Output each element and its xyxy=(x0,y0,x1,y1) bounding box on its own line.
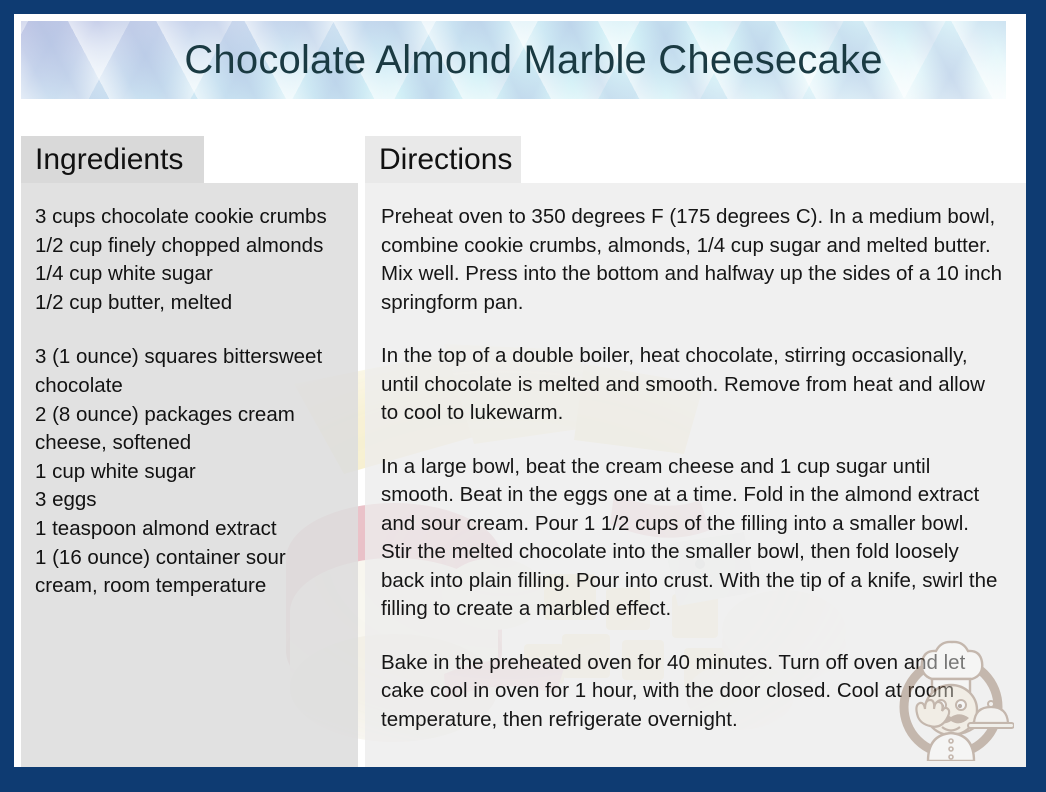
ingredients-group-crust: 3 cups chocolate cookie crumbs1/2 cup fi… xyxy=(35,203,344,317)
directions-panel: Preheat oven to 350 degrees F (175 degre… xyxy=(365,183,1026,767)
ingredient-item: 3 cups chocolate cookie crumbs xyxy=(35,203,344,232)
directions-paragraph-list: Preheat oven to 350 degrees F (175 degre… xyxy=(381,203,1004,734)
ingredient-item: 1/2 cup finely chopped almonds xyxy=(35,232,344,261)
ingredient-item: 2 (8 ounce) packages cream cheese, softe… xyxy=(35,401,344,458)
ingredients-group-spacer xyxy=(35,317,344,343)
ingredient-item: 1 teaspoon almond extract xyxy=(35,515,344,544)
page-title: Chocolate Almond Marble Cheesecake xyxy=(144,38,882,83)
header-band: Chocolate Almond Marble Cheesecake xyxy=(21,21,1006,99)
ingredient-item: 3 eggs xyxy=(35,486,344,515)
tab-ingredients-label: Ingredients xyxy=(35,145,183,175)
direction-paragraph: In the top of a double boiler, heat choc… xyxy=(381,342,1004,428)
direction-paragraph: Bake in the preheated oven for 40 minute… xyxy=(381,649,1004,735)
tab-directions-label: Directions xyxy=(379,145,512,175)
recipe-card-inner: Chocolate Almond Marble Cheesecake Ingre… xyxy=(14,14,1026,767)
ingredients-group-filling: 3 (1 ounce) squares bittersweet chocolat… xyxy=(35,343,344,600)
tab-directions[interactable]: Directions xyxy=(365,136,521,183)
ingredients-panel: 3 cups chocolate cookie crumbs1/2 cup fi… xyxy=(21,183,358,767)
direction-paragraph: In a large bowl, beat the cream cheese a… xyxy=(381,453,1004,624)
ingredient-item: 1/4 cup white sugar xyxy=(35,260,344,289)
ingredient-item: 1 (16 ounce) container sour cream, room … xyxy=(35,544,344,601)
direction-paragraph: Preheat oven to 350 degrees F (175 degre… xyxy=(381,203,1004,317)
ingredient-item: 3 (1 ounce) squares bittersweet chocolat… xyxy=(35,343,344,400)
ingredient-item: 1 cup white sugar xyxy=(35,458,344,487)
recipe-card: Chocolate Almond Marble Cheesecake Ingre… xyxy=(0,0,1046,792)
tab-ingredients[interactable]: Ingredients xyxy=(21,136,204,183)
ingredient-item: 1/2 cup butter, melted xyxy=(35,289,344,318)
